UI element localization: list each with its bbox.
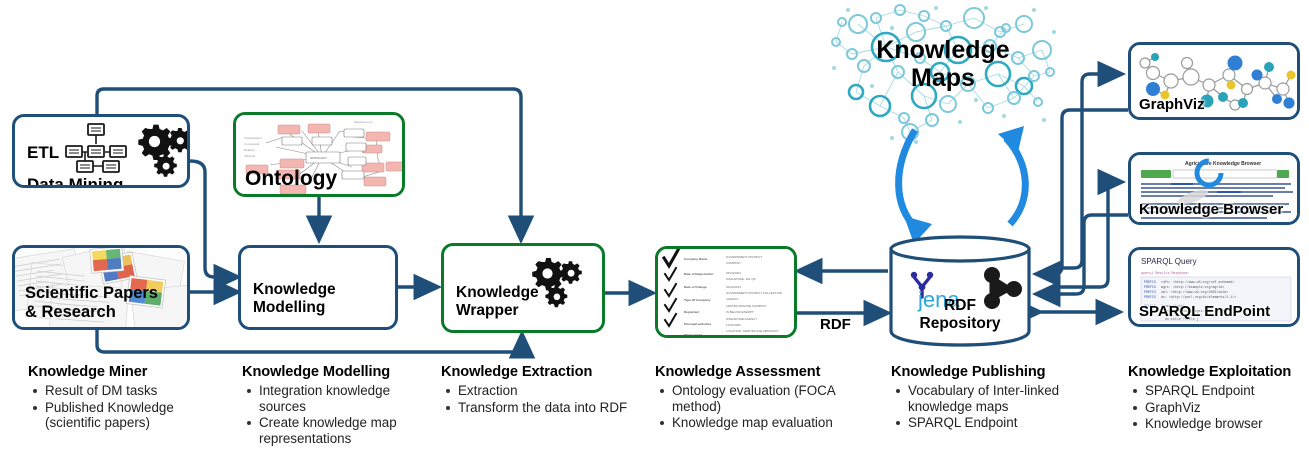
architecture-diagram: ETL Data Mining <box>0 0 1309 460</box>
svg-text:owl: <http://www.w3.org/2002/o: owl: <http://www.w3.org/2002/owl#> <box>1161 290 1228 294</box>
list-item: Extraction <box>458 383 631 399</box>
list-item: Vocabulary of Inter-linked knowledge map… <box>908 383 1091 414</box>
knowledge-assessment-box[interactable]: Company Name Date of Registration Date o… <box>655 246 797 338</box>
caption-title: Knowledge Modelling <box>242 364 438 380</box>
svg-text:01/03/2013: 01/03/2013 <box>726 285 741 289</box>
caption-title: Knowledge Exploitation <box>1128 364 1309 380</box>
svg-text:Company Name: Company Name <box>684 257 708 261</box>
caption-knowledge-modelling: Knowledge Modelling Integration knowledg… <box>242 364 438 448</box>
caption-items: SPARQL Endpoint GraphViz Knowledge brows… <box>1128 383 1309 432</box>
knowledge-browser-box[interactable]: Agriculture Knowledge Browser <box>1128 152 1300 225</box>
sparql-endpoint-box[interactable]: SPARQL Query query1 Results Response PRE… <box>1128 247 1300 327</box>
svg-text:Type Of Company: Type Of Company <box>684 298 711 302</box>
caption-title: Knowledge Publishing <box>891 364 1091 380</box>
list-item: SPARQL Endpoint <box>908 415 1091 431</box>
svg-text:04/04/2001: 04/04/2001 <box>726 271 741 275</box>
checklist-form-icon: Company Name Date of Registration Date o… <box>658 249 797 338</box>
caption-title: Knowledge Extraction <box>441 364 631 380</box>
graphviz-label: GraphViz <box>1139 96 1205 113</box>
caption-knowledge-exploitation: Knowledge Exploitation SPARQL Endpoint G… <box>1128 364 1309 433</box>
caption-items: Ontology evaluation (FOCA method) Knowle… <box>655 383 851 431</box>
svg-text:Date of Change: Date of Change <box>684 285 707 289</box>
svg-text:Attribute: Attribute <box>244 154 256 158</box>
list-item: GraphViz <box>1145 400 1309 416</box>
list-item: Create knowledge map representations <box>259 415 438 446</box>
list-item: Knowledge browser <box>1145 416 1309 432</box>
rdf-repository-label: RDF Repository <box>888 297 1032 333</box>
knowledge-modelling-box[interactable]: Knowledge Modelling <box>238 245 398 330</box>
ontology-box[interactable]: Classification Conceptual Relation Attri… <box>233 112 405 197</box>
svg-text:LOCATION, CERTIFICATE ABSTRACT: LOCATION, CERTIFICATE ABSTRACT <box>726 329 779 333</box>
svg-text:Conceptual: Conceptual <box>244 142 260 146</box>
graphviz-box[interactable]: GraphViz <box>1128 42 1300 120</box>
svg-text:dc: <http://purl.org/dc/elemen: dc: <http://purl.org/dc/elements/1.1/> <box>1161 295 1236 299</box>
caption-items: Integration knowledge sources Create kno… <box>242 383 438 447</box>
svg-text:Classification: Classification <box>244 136 262 140</box>
svg-text:AGENCY: AGENCY <box>726 297 739 301</box>
gear-icon <box>138 125 190 177</box>
svg-text:Relation: Relation <box>244 148 255 152</box>
svg-text:ONTOLOGY: ONTOLOGY <box>310 156 327 160</box>
rdf-label: RDF <box>820 316 851 333</box>
svg-text:query1 Results Response: query1 Results Response <box>1141 271 1188 276</box>
caption-knowledge-miner: Knowledge Miner Result of DM tasks Publi… <box>28 364 224 432</box>
caption-knowledge-publishing: Knowledge Publishing Vocabulary of Inter… <box>891 364 1091 432</box>
wire-etl-to-modelling <box>190 161 238 277</box>
list-item: Result of DM tasks <box>45 383 224 399</box>
svg-text:Measurement: Measurement <box>354 120 373 124</box>
svg-text:PREFIX: PREFIX <box>1144 280 1156 284</box>
knowledge-browser-label: Knowledge Browser <box>1139 201 1283 218</box>
caption-title: Knowledge Assessment <box>655 364 851 380</box>
caption-items: Vocabulary of Inter-linked knowledge map… <box>891 383 1091 431</box>
etl-data-mining-box[interactable]: ETL Data Mining <box>12 114 190 188</box>
svg-text:IS BELOW EXEMPT: IS BELOW EXEMPT <box>726 310 754 314</box>
ontology-label: Ontology <box>245 167 337 191</box>
svg-text:PREFIX: PREFIX <box>1144 290 1156 294</box>
svg-text:PREFIX: PREFIX <box>1144 295 1156 299</box>
data-mining-label: Data Mining <box>27 175 123 188</box>
svg-text:Shares Held: Shares Held <box>684 333 702 337</box>
svg-text:CATEGORY: CATEGORY <box>726 335 743 338</box>
caption-knowledge-extraction: Knowledge Extraction Extraction Transfor… <box>441 364 631 416</box>
svg-text:SINGAPORE AGENCY: SINGAPORE AGENCY <box>726 317 757 321</box>
svg-text:agri: <http://example.org/agri: agri: <http://example.org/agri#> <box>1161 285 1224 289</box>
list-item: Transform the data into RDF <box>458 400 631 416</box>
knowledge-modelling-label: Knowledge Modelling <box>253 281 336 317</box>
knowledge-wrapper-box[interactable]: Knowledge Wrapper <box>441 243 605 333</box>
svg-text:COMPANY: COMPANY <box>726 261 741 265</box>
list-item: Knowledge map evaluation <box>672 415 851 431</box>
svg-text:PREFIX: PREFIX <box>1144 285 1156 289</box>
caption-title: Knowledge Miner <box>28 364 224 380</box>
knowledge-maps-label: Knowledge Maps <box>828 36 1058 92</box>
scientific-papers-box[interactable]: Scientific Papers & Research <box>12 245 190 330</box>
caption-knowledge-assessment: Knowledge Assessment Ontology evaluation… <box>655 364 851 432</box>
svg-text:GOVERNMENT DISTRICT: GOVERNMENT DISTRICT <box>726 255 762 259</box>
svg-text:Principal activities: Principal activities <box>684 322 711 326</box>
wire-papers-to-wrapper <box>97 330 522 352</box>
svg-text:11/07/2002: 11/07/2002 <box>726 323 741 327</box>
list-item: Integration knowledge sources <box>259 383 438 414</box>
svg-text:Date of Registration: Date of Registration <box>684 272 714 276</box>
svg-text:rdfs: <http://www.w3.org/rdf-s: rdfs: <http://www.w3.org/rdf-schema#> <box>1161 280 1234 284</box>
list-item: SPARQL Endpoint <box>1145 383 1309 399</box>
svg-text:GOVERNMENT DISTRICT COLLECTION: GOVERNMENT DISTRICT COLLECTION <box>726 291 782 295</box>
caption-items: Result of DM tasks Published Knowledge (… <box>28 383 224 431</box>
list-item: Published Knowledge (scientific papers) <box>45 400 224 431</box>
svg-text:Registrant: Registrant <box>684 310 699 314</box>
etl-label: ETL <box>27 143 59 163</box>
caption-items: Extraction Transform the data into RDF <box>441 383 631 415</box>
list-item: Ontology evaluation (FOCA method) <box>672 383 851 414</box>
svg-text:LIMITED PRIVATE COMPANY: LIMITED PRIVATE COMPANY <box>726 304 767 308</box>
svg-text:SPARQL Query: SPARQL Query <box>1141 257 1197 266</box>
scientific-papers-label: Scientific Papers & Research <box>25 284 158 321</box>
svg-text:SINGAPORE, 101 QP: SINGAPORE, 101 QP <box>726 277 756 281</box>
sparql-endpoint-label: SPARQL EndPoint <box>1139 303 1270 320</box>
rdf-repository[interactable]: jena RDF Repository <box>888 235 1032 347</box>
knowledge-wrapper-label: Knowledge Wrapper <box>456 284 539 320</box>
